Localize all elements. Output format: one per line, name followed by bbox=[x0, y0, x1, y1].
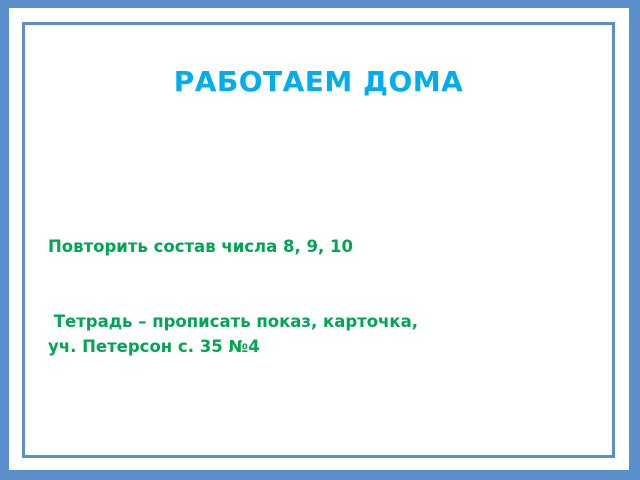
slide-canvas: РАБОТАЕМ ДОМА Повторить состав числа 8, … bbox=[0, 0, 640, 480]
body-line-1: Повторить состав числа 8, 9, 10 bbox=[48, 234, 448, 259]
slide-title: РАБОТАЕМ ДОМА bbox=[25, 67, 612, 98]
slide-content-area: РАБОТАЕМ ДОМА Повторить состав числа 8, … bbox=[25, 25, 612, 455]
slide-body-text: Повторить состав числа 8, 9, 10 Тетрадь … bbox=[48, 184, 448, 409]
body-line-2: Тетрадь – прописать показ, карточка, уч.… bbox=[48, 309, 448, 359]
